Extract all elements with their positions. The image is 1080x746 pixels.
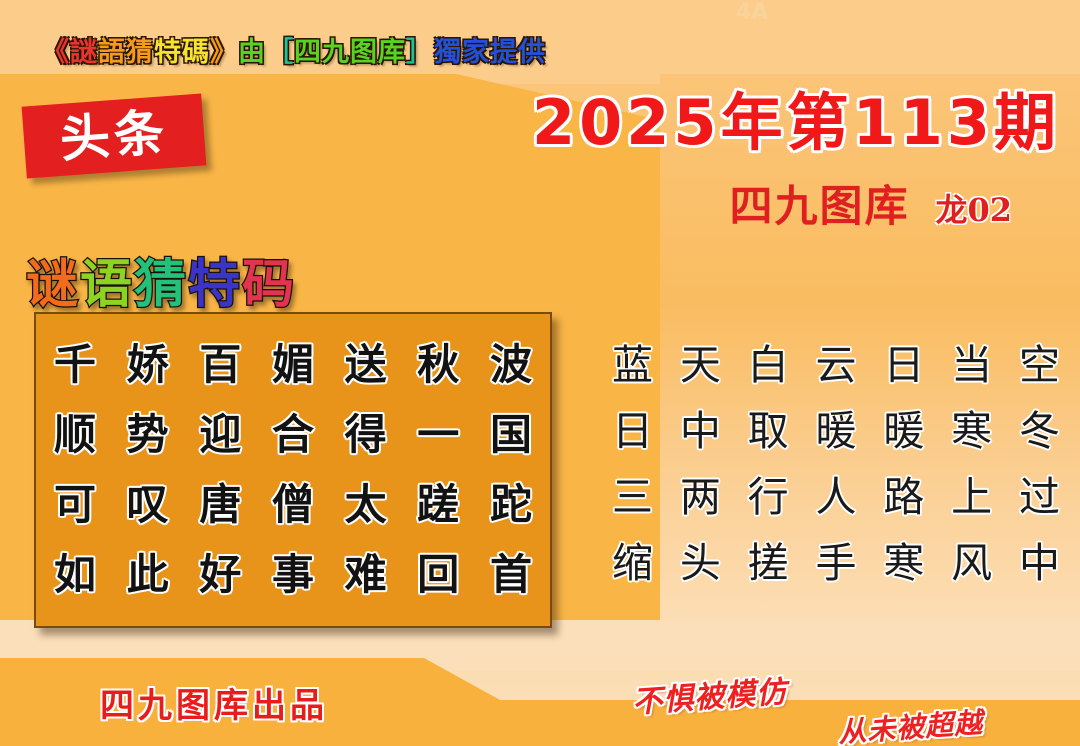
poem-char: 三 bbox=[612, 464, 653, 530]
riddle-char: 顺 bbox=[54, 400, 96, 470]
riddle-line: 如此好事难回首 bbox=[54, 540, 532, 610]
poem-line: 三两行人路上过 bbox=[612, 464, 1060, 530]
footer-brand: 四九图库出品 bbox=[100, 678, 328, 727]
poem-line: 蓝天白云日当空 bbox=[612, 332, 1060, 398]
poem-char: 风 bbox=[951, 530, 992, 596]
riddle-char: 可 bbox=[54, 470, 96, 540]
poem-char: 缩 bbox=[612, 530, 653, 596]
tagline-char-8: ［ bbox=[266, 30, 294, 69]
poem-line: 缩头搓手寒风中 bbox=[612, 530, 1060, 596]
poem-char: 路 bbox=[883, 464, 924, 530]
riddle-char: 势 bbox=[127, 400, 169, 470]
riddle-char: 难 bbox=[345, 540, 387, 610]
poem-char: 日 bbox=[883, 332, 924, 398]
riddle-char: 媚 bbox=[272, 330, 314, 400]
riddle-char: 如 bbox=[54, 540, 96, 610]
tagline-char-16: 提 bbox=[490, 30, 518, 69]
tagline-char-14: 獨 bbox=[434, 30, 462, 69]
poem-char: 云 bbox=[815, 332, 856, 398]
tagline-char-2: 語 bbox=[98, 30, 126, 69]
riddle-box: 千娇百媚送秋波顺势迎合得一国可叹唐僧太蹉跎如此好事难回首 bbox=[34, 312, 552, 628]
poem-char: 暖 bbox=[883, 398, 924, 464]
poem-char: 当 bbox=[951, 332, 992, 398]
tagline-char-12: 库 bbox=[378, 30, 406, 69]
tagline-char-7: 由 bbox=[238, 30, 266, 69]
riddle-char: 一 bbox=[417, 400, 459, 470]
riddle-char: 僧 bbox=[272, 470, 314, 540]
watermark-text: 4A bbox=[736, 0, 768, 25]
riddle-char: 秋 bbox=[417, 330, 459, 400]
tagline-char-1: 謎 bbox=[70, 30, 98, 69]
riddle-line: 可叹唐僧太蹉跎 bbox=[54, 470, 532, 540]
brand-row: 四九图库龙02 bbox=[0, 172, 1012, 234]
poem-char: 空 bbox=[1019, 332, 1060, 398]
section-title-char-4: 码 bbox=[242, 242, 296, 317]
tagline-char-6: 》 bbox=[210, 30, 238, 69]
poem-char: 寒 bbox=[883, 530, 924, 596]
poem-char: 天 bbox=[680, 332, 721, 398]
riddle-line: 千娇百媚送秋波 bbox=[54, 330, 532, 400]
tagline-char-13: ］ bbox=[406, 30, 434, 69]
poem-block: 蓝天白云日当空日中取暖暖寒冬三两行人路上过缩头搓手寒风中 bbox=[612, 332, 1060, 596]
riddle-char: 首 bbox=[490, 540, 532, 610]
poem-char: 寒 bbox=[951, 398, 992, 464]
poem-char: 搓 bbox=[748, 530, 789, 596]
tagline-char-3: 猜 bbox=[126, 30, 154, 69]
poem-char: 暖 bbox=[815, 398, 856, 464]
section-title-char-2: 猜 bbox=[134, 242, 188, 317]
section-title-char-0: 谜 bbox=[26, 242, 80, 317]
riddle-line: 顺势迎合得一国 bbox=[54, 400, 532, 470]
poem-char: 人 bbox=[815, 464, 856, 530]
riddle-char: 迎 bbox=[199, 400, 241, 470]
riddle-char: 此 bbox=[127, 540, 169, 610]
poem-char: 两 bbox=[680, 464, 721, 530]
section-title-riddle: 谜语猜特码 bbox=[26, 242, 296, 317]
tagline-char-9: 四 bbox=[294, 30, 322, 69]
poem-char: 中 bbox=[680, 398, 721, 464]
tagline-char-15: 家 bbox=[462, 30, 490, 69]
poem-char: 手 bbox=[815, 530, 856, 596]
tagline-char-10: 九 bbox=[322, 30, 350, 69]
riddle-char: 得 bbox=[345, 400, 387, 470]
riddle-char: 送 bbox=[345, 330, 387, 400]
brand-name: 四九图库 bbox=[729, 182, 909, 232]
poem-char: 蓝 bbox=[612, 332, 653, 398]
riddle-char: 波 bbox=[490, 330, 532, 400]
tagline-char-11: 图 bbox=[350, 30, 378, 69]
poem-char: 白 bbox=[748, 332, 789, 398]
poem-char: 过 bbox=[1019, 464, 1060, 530]
riddle-char: 叹 bbox=[127, 470, 169, 540]
poem-line: 日中取暖暖寒冬 bbox=[612, 398, 1060, 464]
riddle-char: 跎 bbox=[490, 470, 532, 540]
tagline-char-17: 供 bbox=[518, 30, 546, 69]
riddle-char: 好 bbox=[199, 540, 241, 610]
poem-char: 日 bbox=[612, 398, 653, 464]
poem-char: 行 bbox=[748, 464, 789, 530]
riddle-char: 太 bbox=[345, 470, 387, 540]
poem-char: 上 bbox=[951, 464, 992, 530]
riddle-char: 蹉 bbox=[417, 470, 459, 540]
riddle-char: 合 bbox=[272, 400, 314, 470]
background-bottom-right-band bbox=[500, 700, 1080, 746]
riddle-char: 回 bbox=[417, 540, 459, 610]
riddle-char: 事 bbox=[272, 540, 314, 610]
poem-char: 取 bbox=[748, 398, 789, 464]
tagline-char-5: 碼 bbox=[182, 30, 210, 69]
riddle-char: 国 bbox=[490, 400, 532, 470]
issue-title: 2025年第113期 bbox=[0, 72, 1060, 162]
section-title-char-1: 语 bbox=[80, 242, 134, 317]
riddle-char: 千 bbox=[54, 330, 96, 400]
tagline-char-4: 特 bbox=[154, 30, 182, 69]
poster-canvas: 4A 《謎語猜特碼》由［四九图库］獨家提供 头条 2025年第113期 四九图库… bbox=[0, 0, 1080, 746]
poem-char: 头 bbox=[680, 530, 721, 596]
riddle-char: 唐 bbox=[199, 470, 241, 540]
poem-char: 中 bbox=[1019, 530, 1060, 596]
poem-char: 冬 bbox=[1019, 398, 1060, 464]
section-title-char-3: 特 bbox=[188, 242, 242, 317]
zodiac-label: 龙02 bbox=[935, 191, 1012, 229]
tagline: 《謎語猜特碼》由［四九图库］獨家提供 bbox=[42, 30, 546, 69]
riddle-char: 百 bbox=[199, 330, 241, 400]
riddle-char: 娇 bbox=[127, 330, 169, 400]
tagline-char-0: 《 bbox=[42, 30, 70, 69]
